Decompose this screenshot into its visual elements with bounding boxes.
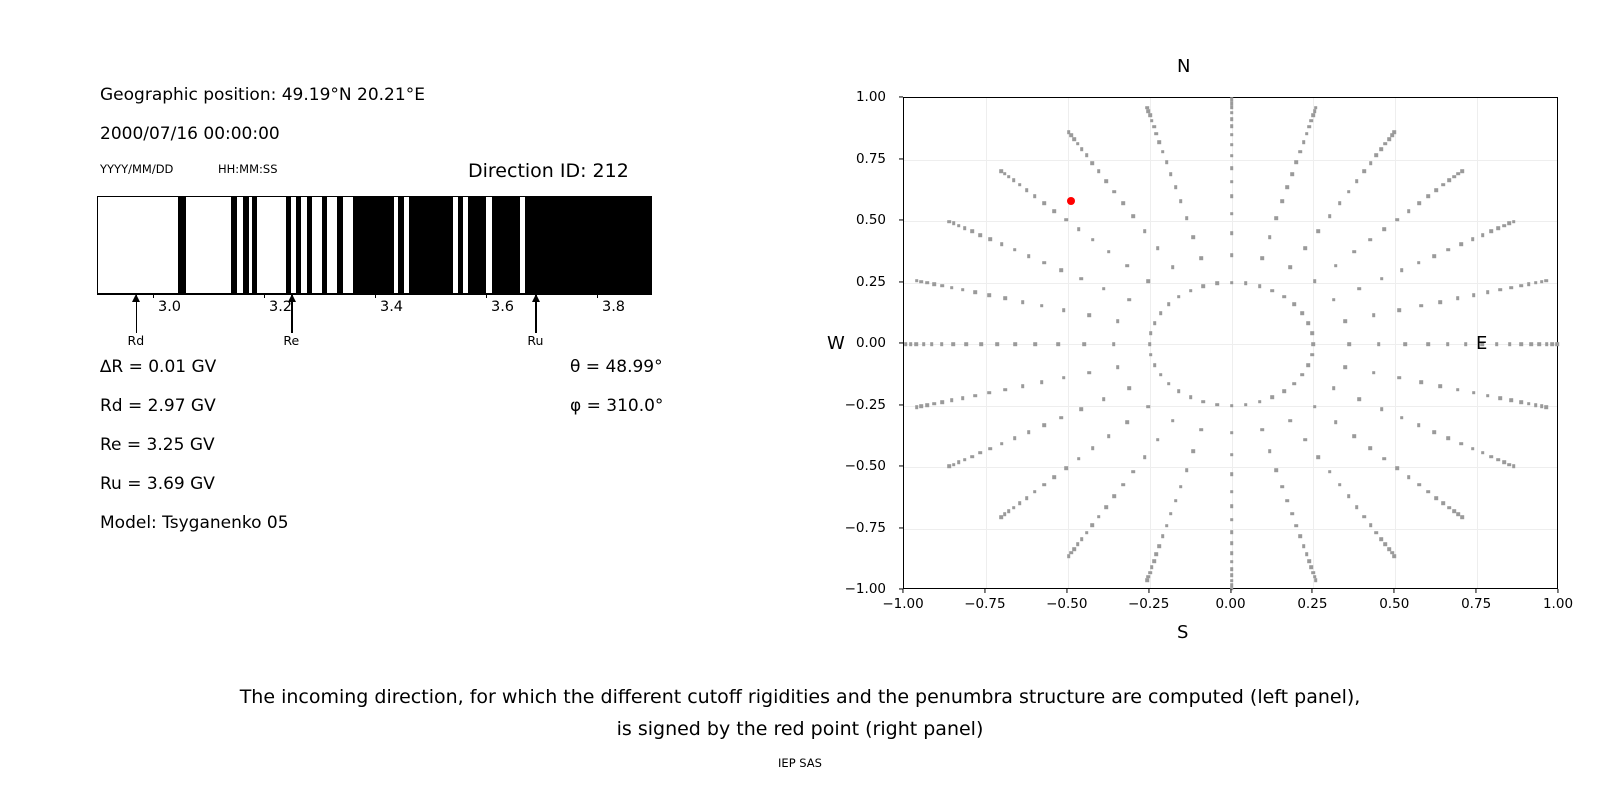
direction-point: [1456, 297, 1460, 301]
direction-point: [1091, 447, 1095, 451]
y-axis-tick-label: 0.00: [836, 335, 886, 351]
direction-point: [1512, 220, 1516, 224]
direction-point: [989, 447, 993, 451]
direction-point: [1189, 395, 1193, 399]
grid-line-horizontal: [904, 529, 1557, 530]
direction-point: [952, 222, 956, 226]
direction-point: [1344, 319, 1348, 323]
y-axis-tick-label: 0.75: [836, 151, 886, 167]
direction-point: [1472, 293, 1476, 297]
direction-point: [1043, 261, 1047, 265]
direction-point: [1192, 449, 1196, 453]
direction-point: [1153, 321, 1157, 325]
direction-point: [1545, 342, 1549, 346]
direction-point: [1307, 125, 1311, 129]
param-phi: φ = 310.0°: [570, 396, 663, 416]
y-axis-tick: [899, 527, 903, 528]
direction-point: [1004, 297, 1008, 301]
direction-point: [1021, 384, 1025, 388]
direction-point: [1161, 535, 1165, 539]
param-theta: θ = 48.99°: [570, 357, 663, 377]
direction-point: [1244, 282, 1248, 286]
direction-point: [1012, 506, 1016, 510]
direction-point: [1244, 403, 1248, 407]
direction-point: [925, 403, 929, 407]
y-axis-tick: [899, 342, 903, 343]
penumbra-axis: 3.03.23.43.63.8RdReRu: [97, 294, 652, 356]
direction-point: [1215, 403, 1219, 407]
y-axis-tick: [899, 404, 903, 405]
direction-point: [1551, 342, 1555, 346]
direction-point: [940, 284, 944, 288]
marker-label: Re: [283, 333, 299, 348]
x-axis-tick: [1312, 589, 1313, 593]
direction-point: [1426, 342, 1430, 346]
direction-point: [1146, 405, 1150, 409]
direction-point: [1301, 373, 1305, 377]
direction-point: [1432, 430, 1436, 434]
direction-point: [1369, 523, 1373, 527]
direction-point: [1087, 314, 1091, 318]
direction-point: [1202, 400, 1206, 404]
direction-point: [1314, 106, 1318, 110]
direction-point: [1435, 188, 1439, 192]
direction-point: [904, 342, 908, 346]
direction-point: [973, 394, 977, 398]
marker-label: Ru: [527, 333, 543, 348]
direction-point: [1446, 342, 1450, 346]
direction-point: [1230, 505, 1234, 509]
direction-point: [1309, 119, 1313, 123]
direction-point: [1303, 246, 1307, 250]
direction-point: [1292, 303, 1296, 307]
x-axis-tick: [1476, 589, 1477, 593]
direction-point: [1069, 133, 1073, 137]
direction-point: [1143, 229, 1147, 233]
direction-point: [1007, 175, 1011, 179]
x-axis-tick: [1557, 589, 1558, 593]
direction-point: [1042, 483, 1046, 487]
direction-point: [1544, 406, 1548, 410]
direction-point: [1161, 150, 1165, 154]
axis-tick-label: 3.4: [380, 299, 403, 315]
x-axis-tick-label: −0.25: [1128, 596, 1169, 612]
direction-point: [1171, 266, 1175, 270]
direction-point: [1018, 183, 1022, 187]
direction-point: [947, 220, 951, 224]
direction-point: [1107, 434, 1111, 438]
direction-point: [1338, 483, 1342, 487]
direction-point: [1344, 365, 1348, 369]
direction-point: [1442, 183, 1446, 187]
direction-point: [1125, 264, 1129, 268]
direction-point: [1309, 566, 1313, 570]
direction-point: [1301, 311, 1305, 315]
direction-point: [1486, 291, 1490, 295]
direction-point: [1131, 470, 1135, 474]
direction-point: [1292, 382, 1296, 386]
direction-point: [1174, 185, 1178, 189]
direction-point: [915, 342, 919, 346]
direction-point: [1417, 201, 1421, 205]
x-axis-tick: [984, 589, 985, 593]
direction-point: [930, 342, 934, 346]
direction-point: [999, 515, 1003, 519]
direction-point: [1459, 243, 1463, 247]
direction-point: [1357, 287, 1361, 291]
direction-point: [1380, 147, 1384, 151]
direction-point: [1481, 233, 1485, 237]
direction-point: [1481, 451, 1485, 455]
direction-point: [1471, 447, 1475, 451]
direction-point: [1275, 468, 1279, 472]
direction-point: [961, 396, 965, 400]
direction-point: [1459, 442, 1463, 446]
direction-point: [1332, 386, 1336, 390]
direction-point: [1021, 300, 1025, 304]
direction-point: [1122, 202, 1126, 206]
param-re: Re = 3.25 GV: [100, 435, 215, 455]
direction-point: [1080, 147, 1084, 151]
direction-point: [1369, 447, 1373, 451]
direction-point: [1289, 266, 1293, 270]
penumbra-band: [409, 197, 453, 293]
direction-point: [1027, 430, 1031, 434]
direction-point: [1435, 496, 1439, 500]
direction-point: [1290, 172, 1294, 176]
direction-point: [925, 281, 929, 285]
direction-point: [1286, 185, 1290, 189]
axis-tick-label: 3.8: [602, 299, 625, 315]
direction-point: [1215, 282, 1219, 286]
direction-point: [1520, 342, 1524, 346]
direction-point: [1395, 467, 1399, 471]
direction-point: [1307, 560, 1311, 564]
direction-point: [1003, 172, 1007, 176]
penumbra-band: [492, 197, 520, 293]
direction-point: [1145, 106, 1149, 110]
direction-point: [1260, 428, 1264, 432]
direction-point: [1268, 449, 1272, 453]
grid-line-vertical: [1395, 98, 1396, 588]
x-axis-tick-label: 0.25: [1297, 596, 1327, 612]
direction-point: [1380, 407, 1384, 411]
param-delta-r: ∆R = 0.01 GV: [100, 357, 216, 377]
direction-point: [1230, 101, 1234, 105]
direction-point: [1311, 114, 1315, 118]
direction-point: [1519, 400, 1523, 404]
caption-line-1: The incoming direction, for which the di…: [0, 686, 1600, 708]
direction-point: [1085, 531, 1089, 535]
compass-north-label: N: [1177, 56, 1190, 77]
penumbra-band: [525, 197, 652, 293]
x-axis-tick-label: −0.75: [964, 596, 1005, 612]
direction-point: [1230, 560, 1234, 564]
param-ru: Ru = 3.69 GV: [100, 474, 215, 494]
direction-point: [1158, 140, 1162, 144]
direction-point: [1230, 180, 1234, 184]
direction-point: [1271, 289, 1275, 293]
direction-point: [932, 282, 936, 286]
x-axis-tick: [1230, 589, 1231, 593]
direction-point: [1230, 551, 1234, 555]
direction-point: [1169, 172, 1173, 176]
direction-point: [1113, 495, 1117, 499]
direction-point: [951, 342, 955, 346]
direction-point: [1097, 515, 1101, 519]
direction-point: [1338, 202, 1342, 206]
direction-point: [1003, 513, 1007, 517]
direction-point: [1122, 483, 1126, 487]
sky-map-panel: N S E W 1.000.750.500.250.00−0.25−0.50−0…: [800, 0, 1600, 660]
direction-point: [1149, 353, 1153, 357]
direction-point: [1417, 483, 1421, 487]
direction-point: [1179, 200, 1183, 204]
direction-point: [950, 399, 954, 403]
direction-point: [1452, 510, 1456, 514]
direction-point: [1076, 542, 1080, 546]
direction-point: [1534, 281, 1538, 285]
direction-point: [1489, 455, 1493, 459]
direction-point: [988, 293, 992, 297]
direction-point: [1347, 190, 1351, 194]
x-axis-tick-label: 0.00: [1215, 596, 1245, 612]
grid-line-vertical: [1068, 98, 1069, 588]
direction-point: [1159, 373, 1163, 377]
direction-point: [1460, 515, 1464, 519]
param-rd: Rd = 2.97 GV: [100, 396, 216, 416]
direction-point: [1091, 523, 1095, 527]
x-axis-tick: [1148, 589, 1149, 593]
direction-point: [1489, 230, 1493, 234]
direction-point: [1143, 455, 1147, 459]
direction-point: [1312, 342, 1316, 346]
grid-line-horizontal: [904, 221, 1557, 222]
direction-point: [1271, 395, 1275, 399]
penumbra-band: [468, 197, 486, 293]
direction-point: [1040, 304, 1044, 308]
direction-point: [1305, 132, 1309, 136]
direction-point: [920, 405, 924, 409]
direction-point: [1397, 376, 1401, 380]
direction-point: [1369, 238, 1373, 242]
left-panel: Geographic position: 49.19°N 20.21°E 200…: [0, 0, 800, 660]
direction-point: [1062, 308, 1066, 312]
direction-point: [1355, 179, 1359, 183]
direction-point: [1116, 319, 1120, 323]
direction-point: [1372, 371, 1376, 375]
direction-point: [1064, 218, 1068, 222]
direction-point: [1155, 132, 1159, 136]
y-axis-tick-label: −0.50: [836, 458, 886, 474]
direction-point: [1230, 404, 1234, 408]
direction-point: [1165, 160, 1169, 164]
direction-point: [1352, 434, 1356, 438]
x-axis-tick-label: −0.50: [1046, 596, 1087, 612]
direction-point: [1302, 544, 1306, 548]
penumbra-chart: [97, 196, 652, 294]
direction-point: [970, 230, 974, 234]
direction-point: [1152, 560, 1156, 564]
direction-point: [1357, 398, 1361, 402]
direction-point: [1510, 399, 1514, 403]
direction-point: [1230, 124, 1234, 128]
direction-point: [1275, 216, 1279, 220]
direction-point: [1079, 407, 1083, 411]
direction-point: [1348, 342, 1352, 346]
direction-point: [1281, 200, 1285, 204]
direction-point: [1362, 515, 1366, 519]
direction-point: [1464, 342, 1468, 346]
direction-point: [1375, 154, 1379, 158]
y-axis-tick: [899, 158, 903, 159]
y-axis-tick-label: −1.00: [836, 581, 886, 597]
axis-tick: [375, 294, 376, 298]
direction-point: [1496, 458, 1500, 462]
direction-point: [1230, 143, 1234, 147]
direction-point: [989, 238, 993, 242]
direction-point: [1153, 363, 1157, 367]
direction-point: [979, 233, 983, 237]
direction-point: [1334, 420, 1338, 424]
direction-point: [1268, 235, 1272, 239]
direction-point: [1380, 277, 1384, 281]
direction-point: [1230, 117, 1234, 121]
direction-point: [1155, 552, 1159, 556]
direction-point: [1085, 154, 1089, 158]
direction-point: [1192, 235, 1196, 239]
direction-point: [1527, 282, 1531, 286]
direction-point: [932, 402, 936, 406]
direction-point: [1380, 537, 1384, 541]
direction-point: [1150, 566, 1154, 570]
penumbra-band: [353, 197, 394, 293]
direction-point: [1159, 311, 1163, 315]
direction-point: [1383, 457, 1387, 461]
direction-point: [1149, 332, 1153, 336]
x-axis-tick-label: 1.00: [1543, 596, 1573, 612]
direction-point: [1316, 455, 1320, 459]
direction-point: [1290, 512, 1294, 516]
direction-point: [1199, 428, 1203, 432]
direction-point: [1177, 389, 1181, 393]
direction-point: [1417, 423, 1421, 427]
direction-point: [1230, 518, 1234, 522]
direction-point: [1310, 353, 1314, 357]
direction-point: [1158, 544, 1162, 548]
y-axis-tick-label: −0.25: [836, 397, 886, 413]
direction-point: [1512, 465, 1516, 469]
penumbra-band: [243, 197, 249, 293]
direction-point: [1116, 365, 1120, 369]
axis-tick: [264, 294, 265, 298]
direction-point: [1456, 388, 1460, 392]
axis-tick-label: 3.0: [158, 299, 181, 315]
direction-point: [1510, 286, 1514, 290]
direction-point: [1230, 111, 1234, 115]
direction-point: [1258, 284, 1262, 288]
direction-point: [1307, 321, 1311, 325]
direction-point: [957, 224, 961, 228]
direction-point: [1043, 423, 1047, 427]
direction-point: [1486, 394, 1490, 398]
direction-point: [1077, 457, 1081, 461]
direction-point: [1177, 295, 1181, 299]
arrow-up-icon: [132, 294, 140, 302]
selected-direction-point: [1067, 197, 1075, 205]
direction-point: [1091, 161, 1095, 165]
y-axis-tick: [899, 465, 903, 466]
direction-point: [952, 463, 956, 467]
direction-point: [1014, 342, 1018, 346]
penumbra-band: [252, 197, 258, 293]
direction-point: [1258, 400, 1262, 404]
direction-point: [970, 455, 974, 459]
direction-point: [1540, 280, 1544, 284]
direction-point: [1128, 298, 1132, 302]
compass-east-label: E: [1476, 333, 1487, 354]
direction-point: [1107, 250, 1111, 254]
direction-point: [1202, 284, 1206, 288]
direction-point: [1328, 470, 1332, 474]
direction-point: [909, 342, 913, 346]
direction-point: [1064, 467, 1068, 471]
arrow-up-icon: [532, 294, 540, 302]
direction-point: [1230, 133, 1234, 137]
direction-point: [1298, 535, 1302, 539]
grid-line-horizontal: [904, 344, 1557, 345]
direction-point: [1230, 254, 1234, 258]
direction-point: [1104, 505, 1108, 509]
direction-point: [1230, 281, 1234, 285]
x-axis-tick: [1066, 589, 1067, 593]
axis-tick: [486, 294, 487, 298]
y-axis-tick-label: −0.75: [836, 520, 886, 536]
direction-point: [1148, 571, 1152, 575]
direction-point: [1289, 419, 1293, 423]
grid-line-vertical: [986, 98, 987, 588]
direction-point: [1393, 130, 1397, 134]
y-axis-tick-label: 0.50: [836, 212, 886, 228]
datetime-text: 2000/07/16 00:00:00: [100, 124, 280, 144]
direction-point: [1131, 214, 1135, 218]
direction-point: [1334, 264, 1338, 268]
direction-point: [1499, 288, 1503, 292]
direction-point: [950, 286, 954, 290]
direction-point: [1427, 194, 1431, 198]
direction-point: [1080, 537, 1084, 541]
grid-line-vertical: [1232, 98, 1233, 588]
penumbra-band: [458, 197, 463, 293]
direction-point: [973, 291, 977, 295]
axis-tick: [597, 294, 598, 298]
direction-point: [1112, 342, 1116, 346]
direction-point: [1167, 382, 1171, 386]
direction-point: [915, 279, 919, 283]
direction-point: [922, 342, 926, 346]
direction-point: [1417, 261, 1421, 265]
penumbra-band: [231, 197, 237, 293]
direction-point: [1125, 420, 1129, 424]
direction-point: [1012, 179, 1016, 183]
direction-point: [1230, 195, 1234, 199]
direction-point: [963, 227, 967, 231]
direction-point: [1362, 170, 1366, 174]
penumbra-band: [286, 197, 291, 293]
compass-south-label: S: [1177, 622, 1188, 643]
direction-point: [1230, 490, 1234, 494]
direction-point: [1199, 257, 1203, 261]
